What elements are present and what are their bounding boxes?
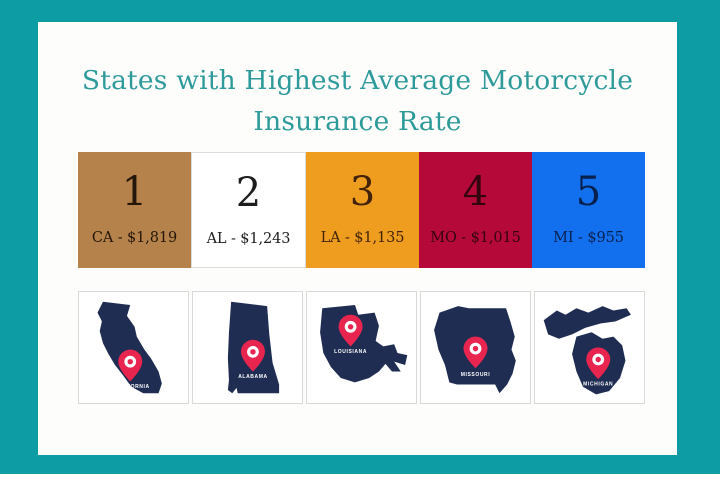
rank-cell-4: 4 MO - $1,015	[419, 152, 532, 268]
rank-label-4: MO - $1,015	[430, 230, 521, 247]
rank-label-5: MI - $955	[553, 230, 624, 247]
rank-label-1: CA - $1,819	[92, 230, 177, 247]
state-name-missouri: MISSOURI	[461, 372, 491, 378]
state-name-alabama: ALABAMA	[238, 374, 267, 380]
rank-cell-1: 1 CA - $1,819	[78, 152, 191, 268]
rank-number-2: 2	[236, 171, 261, 215]
rank-number-4: 4	[463, 170, 488, 214]
state-name-louisiana: LOUISIANA	[334, 349, 367, 355]
rank-label-2: AL - $1,243	[207, 231, 291, 248]
page-title: States with Highest Average Motorcycle I…	[38, 60, 677, 142]
map-card-michigan: MICHIGAN	[534, 291, 645, 404]
page-title-line-2: Insurance Rate	[38, 101, 677, 142]
map-card-california: CALIFORNIA	[78, 291, 189, 404]
map-card-missouri: MISSOURI	[420, 291, 531, 404]
rank-number-1: 1	[122, 170, 147, 214]
state-name-california: CALIFORNIA	[113, 384, 150, 390]
ranking-row: 1 CA - $1,819 2 AL - $1,243 3 LA - $1,13…	[78, 152, 645, 268]
rank-cell-3: 3 LA - $1,135	[306, 152, 419, 268]
rank-number-3: 3	[350, 170, 375, 214]
state-name-michigan: MICHIGAN	[583, 382, 613, 388]
rank-number-5: 5	[576, 170, 601, 214]
map-card-alabama: ALABAMA	[192, 291, 303, 404]
rank-cell-2: 2 AL - $1,243	[191, 152, 306, 268]
louisiana-state-shape	[320, 305, 407, 382]
page-title-line-1: States with Highest Average Motorcycle	[38, 60, 677, 101]
infographic-poster: States with Highest Average Motorcycle I…	[0, 0, 720, 480]
rank-label-3: LA - $1,135	[321, 230, 405, 247]
state-map-row: CALIFORNIA ALABAMA	[78, 291, 645, 404]
map-card-louisiana: LOUISIANA	[306, 291, 417, 404]
rank-cell-5: 5 MI - $955	[532, 152, 645, 268]
